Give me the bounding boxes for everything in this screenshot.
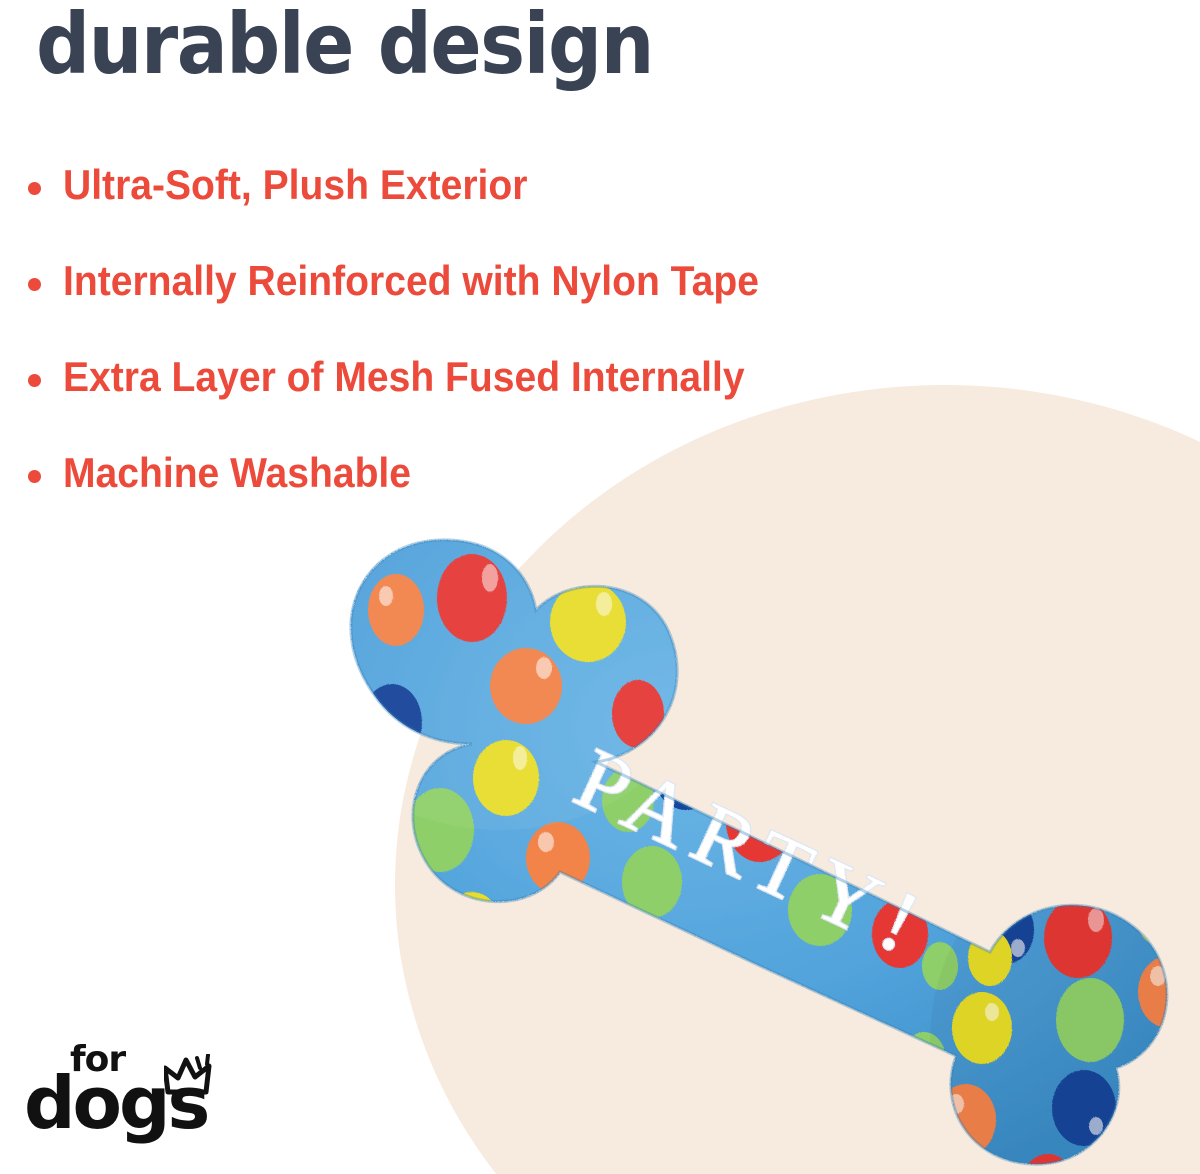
feature-label: Internally Reinforced with Nylon Tape (63, 256, 759, 306)
brand-logo-for-dogs: for dogs (24, 1040, 239, 1160)
bullet-dot-icon (28, 278, 41, 291)
bullet-dot-icon (28, 182, 41, 195)
product-image-plush-bone-toy: PARTY! (200, 500, 1200, 1174)
feature-label: Machine Washable (63, 448, 411, 498)
page-title: durable design (36, 2, 653, 86)
list-item: Machine Washable (28, 448, 811, 544)
feature-label: Extra Layer of Mesh Fused Internally (63, 352, 745, 402)
list-item: Extra Layer of Mesh Fused Internally (28, 352, 811, 448)
feature-list: Ultra-Soft, Plush Exterior Internally Re… (28, 160, 811, 544)
bullet-dot-icon (28, 470, 41, 483)
logo-text-dogs: dogs (24, 1066, 207, 1140)
list-item: Internally Reinforced with Nylon Tape (28, 256, 811, 352)
list-item: Ultra-Soft, Plush Exterior (28, 160, 811, 256)
feature-label: Ultra-Soft, Plush Exterior (63, 160, 527, 210)
product-feature-image: durable design Ultra-Soft, Plush Exterio… (0, 0, 1200, 1174)
bullet-dot-icon (28, 374, 41, 387)
